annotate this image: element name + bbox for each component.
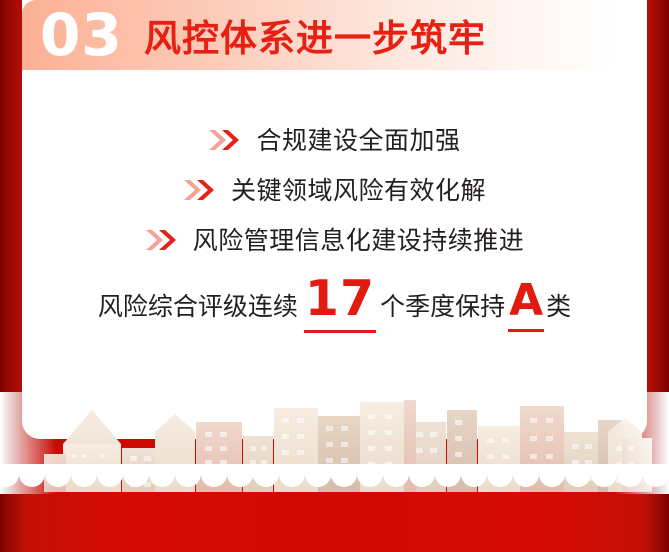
double-chevron-right-icon [208,128,242,152]
highlight-prefix: 风险综合评级连续 [98,287,298,323]
highlight-middle: 个季度保持 [380,287,505,323]
list-item: 关键领域风险有效化解 [22,164,647,214]
double-chevron-right-icon [145,228,179,252]
highlight-statistic: 风险综合评级连续 17 个季度保持 A 类 [22,274,647,323]
bullet-list: 合规建设全面加强 关键领域风险有效化解 风险 [22,114,647,264]
scallop-wave-divider [0,464,669,490]
list-item-label: 关键领域风险有效化解 [231,171,486,207]
list-item: 风险管理信息化建设持续推进 [22,214,647,264]
infographic-slide: 03 风控体系进一步筑牢 合规建设全面加强 [0,0,669,552]
highlight-number: 17 [298,274,380,323]
city-skyline-silhouette [0,392,669,552]
section-header-band: 03 风控体系进一步筑牢 [22,0,647,70]
list-item: 合规建设全面加强 [22,114,647,164]
double-chevron-right-icon [183,178,217,202]
highlight-grade: A [505,279,546,323]
list-item-label: 风险管理信息化建设持续推进 [193,221,525,257]
section-number-badge: 03 [40,0,123,70]
highlight-suffix: 类 [546,287,571,323]
content-card: 03 风控体系进一步筑牢 合规建设全面加强 [22,0,647,439]
page-title: 风控体系进一步筑牢 [144,0,486,70]
list-item-label: 合规建设全面加强 [256,121,460,157]
